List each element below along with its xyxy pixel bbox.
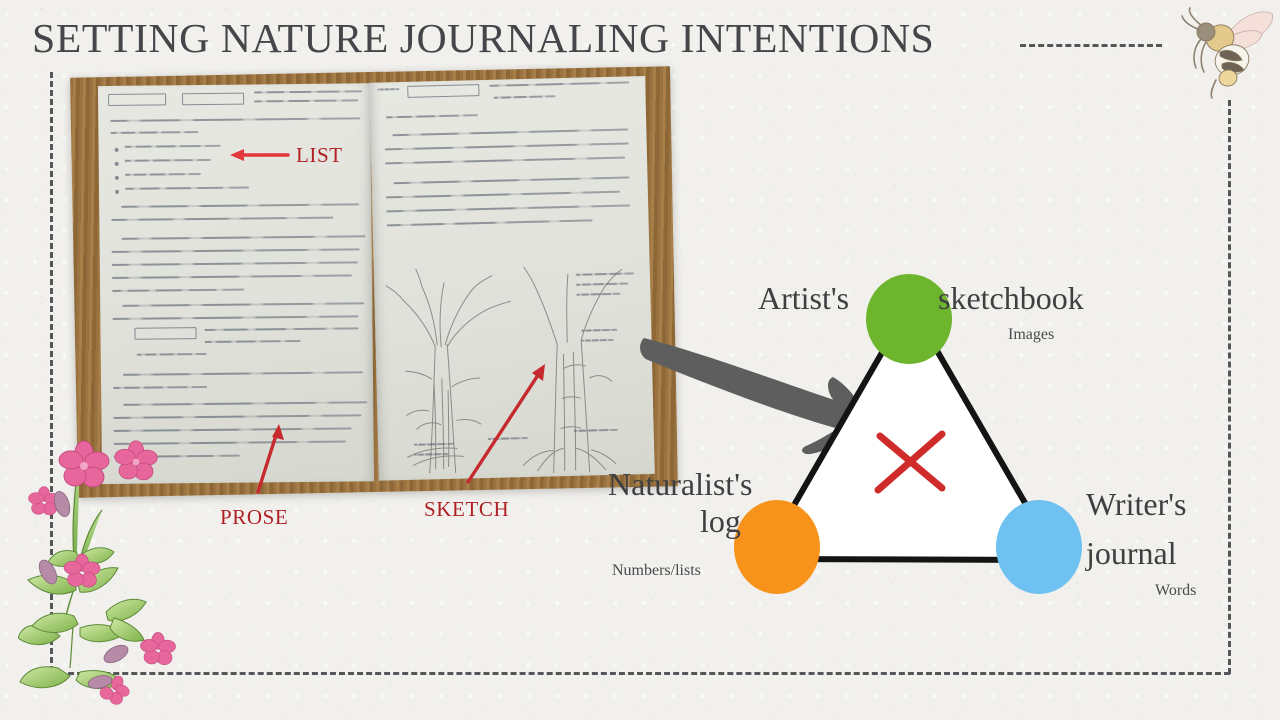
- annotation-label-prose: PROSE: [220, 505, 288, 530]
- hw-line: [385, 157, 625, 165]
- hw-bullet: [115, 162, 119, 166]
- node-label-artists-sketchbook-part2: sketchbook: [938, 281, 1084, 317]
- node-label-artists-sketchbook-part1: Artist's: [758, 281, 849, 317]
- hw-line: [112, 248, 360, 253]
- hw-line: [386, 204, 630, 212]
- journaling-triangle-diagram: Artist's sketchbook Images Naturalist's …: [590, 250, 1250, 630]
- hw-bullet: [115, 148, 119, 152]
- hw-line: [112, 261, 358, 266]
- bumblebee-illustration: [1176, 4, 1280, 100]
- node-sublabel-numbers-lists: Numbers/lists: [612, 562, 701, 580]
- hw-line: [137, 353, 207, 356]
- hw-place-box: [182, 93, 244, 106]
- node-sublabel-images: Images: [1008, 326, 1054, 344]
- red-campion-illustration: [18, 432, 198, 720]
- hw-line: [125, 173, 201, 176]
- hw-line: [385, 142, 629, 150]
- hw-place-box: [407, 84, 479, 98]
- annotation-label-sketch: SKETCH: [424, 497, 509, 522]
- hw-place-box: [134, 327, 196, 340]
- frame-dash-top: [1020, 44, 1162, 47]
- page-title: SETTING NATURE JOURNALING INTENTIONS: [32, 14, 934, 62]
- hw-line: [110, 117, 360, 122]
- hw-line: [494, 95, 556, 99]
- node-label-writers-journal-part2: journal: [1086, 536, 1177, 572]
- hw-bullet: [115, 190, 119, 194]
- hw-line: [125, 145, 221, 148]
- hw-date-box: [108, 93, 166, 106]
- node-label-naturalists-log-part2: log: [700, 504, 741, 540]
- vertex-dot-naturalists-log[interactable]: [734, 500, 820, 594]
- hw-line: [386, 114, 478, 118]
- hw-line: [254, 99, 358, 102]
- hw-line: [377, 88, 399, 91]
- hw-line: [394, 176, 630, 184]
- hw-bullet: [115, 176, 119, 180]
- hw-line: [111, 217, 333, 221]
- node-label-naturalists-log-part1: Naturalist's: [608, 467, 752, 503]
- hw-line: [125, 187, 249, 190]
- node-sublabel-words: Words: [1155, 582, 1196, 600]
- hw-line: [112, 289, 244, 292]
- annotation-label-list: LIST: [296, 143, 343, 168]
- frame-dash-bottom: [50, 672, 1230, 675]
- hw-line: [386, 191, 620, 199]
- hw-line: [123, 401, 367, 406]
- hw-line: [392, 128, 628, 136]
- hw-line: [125, 159, 211, 162]
- hw-line: [110, 131, 198, 134]
- hw-line: [123, 371, 363, 376]
- hw-line: [122, 302, 364, 307]
- hw-line: [121, 203, 359, 207]
- hw-line: [122, 235, 366, 240]
- hw-line: [205, 340, 301, 343]
- hw-line: [112, 315, 358, 320]
- hw-line: [113, 414, 361, 419]
- hw-line: [387, 219, 593, 226]
- hw-line: [112, 274, 352, 279]
- node-label-writers-journal-part1: Writer's: [1086, 487, 1186, 523]
- hw-line: [113, 386, 207, 389]
- hw-line: [489, 81, 629, 86]
- hw-line: [204, 327, 358, 331]
- hw-line: [254, 90, 362, 93]
- vertex-dot-writers-journal[interactable]: [996, 500, 1082, 594]
